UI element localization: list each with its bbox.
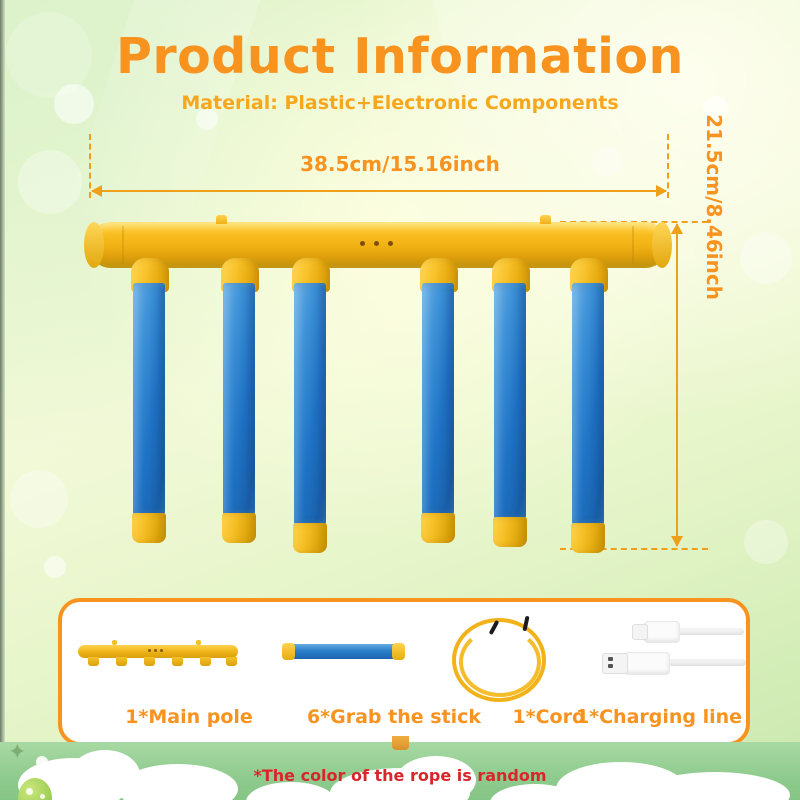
pole-nub — [540, 215, 551, 224]
usb-a-pin — [608, 657, 613, 661]
stick-tip — [132, 513, 166, 543]
star-icon: ✦ — [8, 742, 26, 764]
pole-seam — [122, 226, 124, 264]
blob-dot — [40, 794, 45, 799]
mini-socket — [200, 657, 211, 666]
rope-color-note: *The color of the rope is random — [0, 766, 800, 785]
usb-c-wire — [672, 628, 744, 635]
foam-stick — [294, 283, 326, 525]
grab-stick-icon — [288, 644, 398, 659]
height-dimension-label: 21.5cm/8.46inch — [702, 114, 726, 300]
usb-a-wire — [660, 659, 746, 666]
pole-seam — [632, 226, 634, 264]
main-pole-icon — [78, 645, 238, 658]
foam-stick — [133, 283, 165, 515]
mini-socket — [144, 657, 155, 666]
usb-a-head — [602, 653, 628, 674]
mini-socket — [172, 657, 183, 666]
foam-stick — [572, 283, 604, 525]
mini-nub — [112, 640, 117, 645]
bokeh-circle — [10, 470, 68, 528]
led-indicator — [374, 241, 379, 246]
led-indicator — [388, 241, 393, 246]
stick-cap — [282, 643, 295, 660]
bokeh-circle — [740, 232, 792, 284]
stick-tip — [293, 523, 327, 553]
foam-stick — [223, 283, 255, 515]
mini-socket — [226, 657, 237, 666]
pole-nub — [216, 215, 227, 224]
height-dimension-arrow — [676, 224, 678, 546]
usb-c-head — [632, 624, 648, 640]
product-information-page: Product Information Material: Plastic+El… — [0, 0, 800, 800]
blob-dot — [26, 788, 33, 795]
led-indicator — [360, 241, 365, 246]
usb-c-body — [644, 621, 680, 643]
material-subtitle: Material: Plastic+Electronic Components — [0, 92, 800, 114]
mini-nub — [196, 640, 201, 645]
usb-a-pin — [608, 664, 613, 668]
panel-tab — [392, 736, 409, 750]
stick-tip — [571, 523, 605, 553]
page-title: Product Information — [0, 28, 800, 85]
mini-led — [154, 649, 157, 652]
stick-tip — [222, 513, 256, 543]
bokeh-circle — [744, 520, 788, 564]
stick-tip — [493, 517, 527, 547]
accessory-label-charging-line: 1*Charging line — [564, 706, 754, 728]
mini-socket — [116, 657, 127, 666]
stick-tip — [421, 513, 455, 543]
mini-socket — [88, 657, 99, 666]
mini-led — [160, 649, 163, 652]
left-edge-strip — [0, 0, 5, 800]
accessory-label-main-pole: 1*Main pole — [94, 706, 284, 728]
foam-stick — [494, 283, 526, 519]
bokeh-circle — [44, 556, 66, 578]
foam-stick — [422, 283, 454, 515]
pole-end-right — [652, 222, 672, 268]
mini-led — [148, 649, 151, 652]
width-dimension-arrow — [92, 190, 666, 192]
stick-cap — [392, 643, 405, 660]
width-dimension-label: 38.5cm/15.16inch — [0, 152, 800, 176]
pole-end-left — [84, 222, 104, 268]
usb-a-body — [624, 652, 670, 675]
cord-inner-loop — [459, 627, 541, 697]
accessory-label-row: 1*Main pole 6*Grab the stick 1*Cord 1*Ch… — [58, 706, 742, 740]
